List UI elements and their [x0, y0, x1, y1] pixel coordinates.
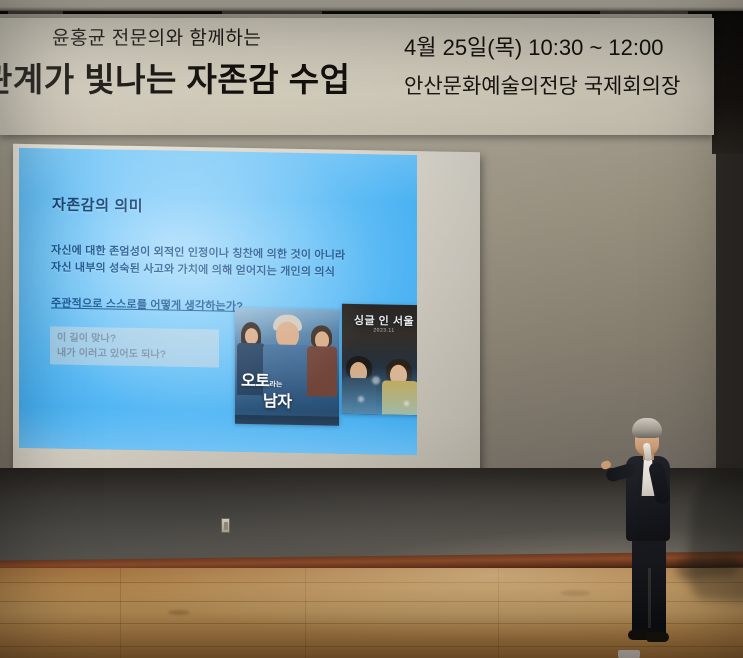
slide-body: 자신에 대한 존엄성이 외적인 인정이나 칭찬에 의한 것이 아니라 자신 내부… — [51, 242, 403, 282]
slide-quote-box: 이 길이 맞나? 내가 이러고 있어도 되나? — [50, 326, 219, 367]
projection-screen: 자존감의 의미 자신에 대한 존엄성이 외적인 인정이나 칭찬에 의한 것이 아… — [13, 144, 480, 495]
movie-poster-otto: 오토라는 남자 — [235, 308, 339, 426]
poster-otto-title-line1: 오토 — [241, 373, 269, 391]
light-switch[interactable] — [221, 518, 230, 533]
poster-single-subtitle: 2023.11 — [342, 327, 417, 335]
poster-bokeh-3 — [404, 401, 409, 406]
banner-venue: 안산문화예술의전당 국제회의장 — [404, 69, 710, 105]
poster-fig-body-right — [307, 346, 337, 397]
poster-otto-title: 오토라는 남자 — [241, 373, 291, 411]
banner-datetime: 4월 25일(목) 10:30 ~ 12:00 — [404, 30, 710, 66]
poster-fig-head-left — [245, 328, 258, 344]
speaker-shoe-right — [647, 632, 669, 642]
poster-otto-title-line2: 남자 — [263, 393, 291, 411]
poster-otto-credits-strip — [235, 415, 339, 426]
slide-quote-line-2: 내가 이러고 있어도 되나? — [57, 346, 212, 364]
poster-single-glow — [342, 366, 417, 416]
slide-question-text: 주관적으로 스스로를 어떻게 생각하는가? — [51, 297, 243, 313]
speaker-person — [600, 418, 720, 658]
poster-otto-title-mid: 라는 — [269, 381, 282, 388]
poster-bokeh-2 — [358, 396, 364, 402]
slide-title: 자존감의 의미 — [52, 193, 143, 216]
banner-subtitle: 윤홍균 전문의와 함께하는 — [0, 24, 400, 54]
projected-slide: 자존감의 의미 자신에 대한 존엄성이 외적인 인정이나 칭찬에 의한 것이 아… — [19, 148, 417, 455]
banner-right-block: 4월 25일(목) 10:30 ~ 12:00 안산문화예술의전당 국제회의장 — [404, 30, 710, 105]
slide-question: 주관적으로 스스로를 어떻게 생각하는가? — [51, 294, 243, 314]
banner-left-block: 윤홍균 전문의와 함께하는 관계가 빛나는 자존감 수업 — [0, 24, 400, 104]
poster-bokeh-1 — [372, 376, 380, 384]
speaker-leg-gap — [648, 568, 651, 628]
speaker-hair — [632, 418, 662, 438]
movie-poster-single-in-seoul: 싱글 인 서울 2023.11 — [342, 304, 417, 416]
floor-object — [618, 650, 640, 658]
wall-right-dark-column — [712, 14, 743, 154]
lecture-hall-photo: 윤홍균 전문의와 함께하는 관계가 빛나는 자존감 수업 4월 25일(목) 1… — [0, 0, 743, 658]
banner-title: 관계가 빛나는 자존감 수업 — [0, 56, 400, 104]
event-banner: 윤홍균 전문의와 함께하는 관계가 빛나는 자존감 수업 4월 25일(목) 1… — [0, 18, 714, 135]
speaker-shoe-left — [628, 630, 649, 640]
